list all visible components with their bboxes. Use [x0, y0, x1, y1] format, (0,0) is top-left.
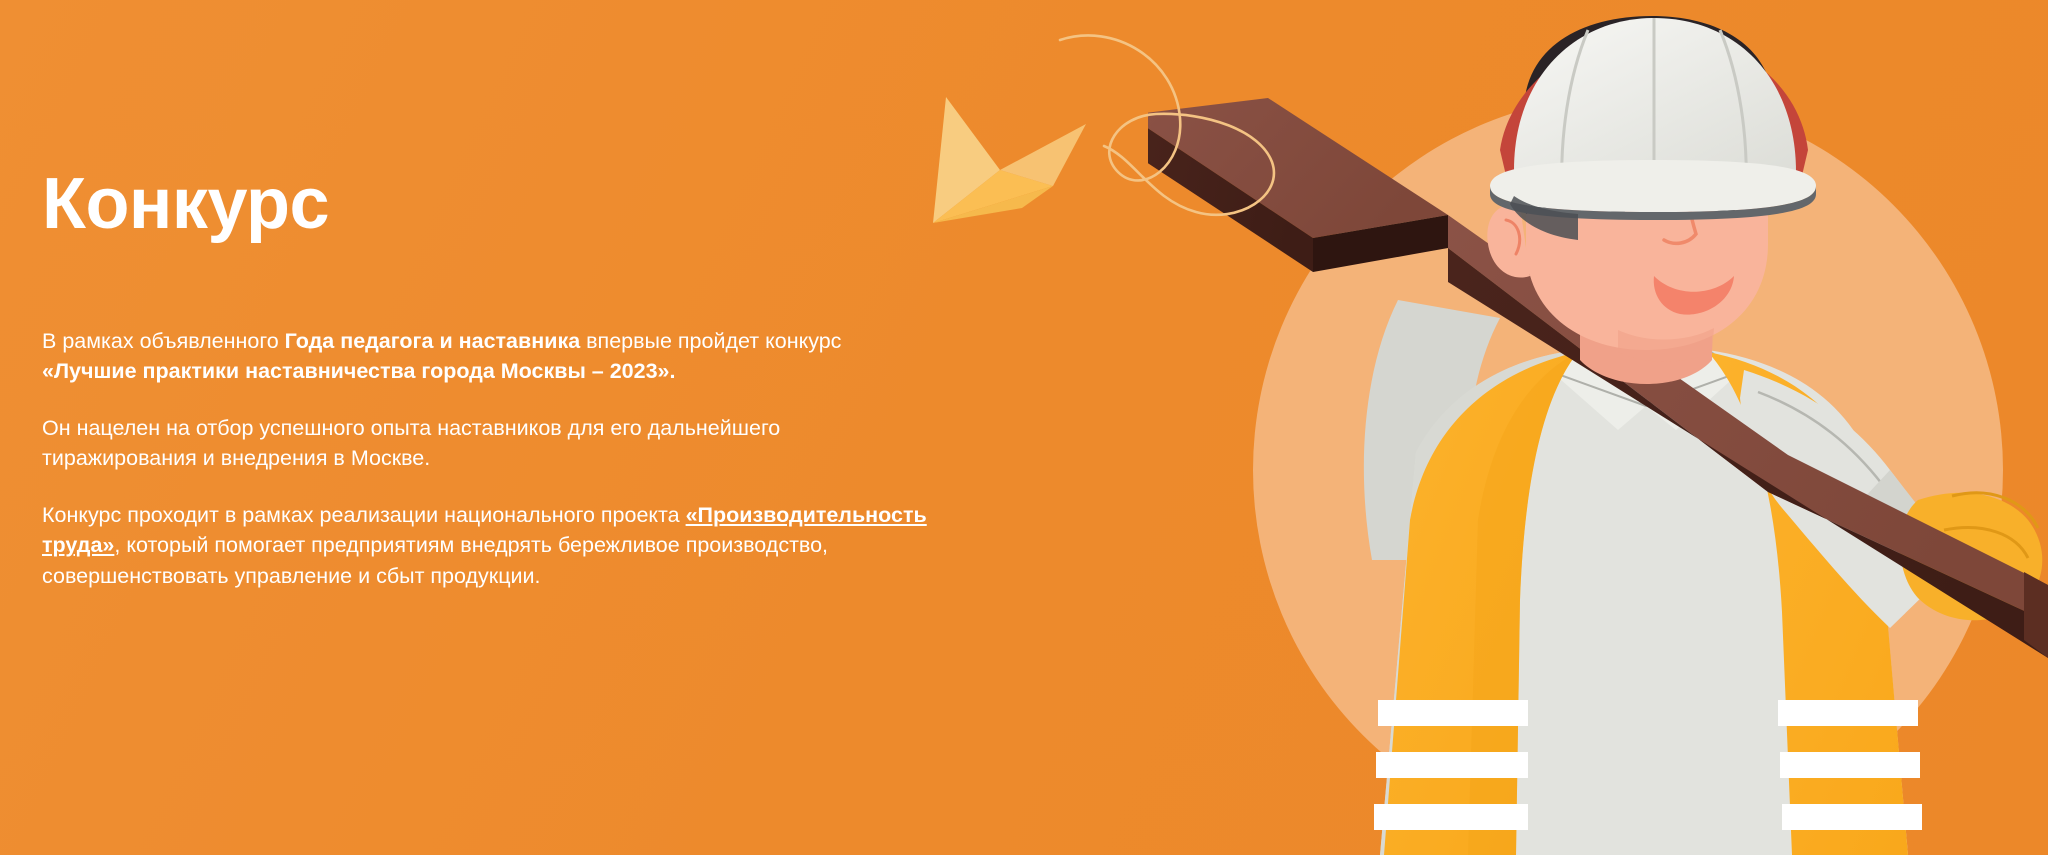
promo-banner: Конкурс В рамках объявленного Года педаг…	[0, 0, 2048, 855]
worker-hard-hat	[1490, 18, 1816, 240]
paragraph-1-run-2-bold: Года педагога и наставника	[285, 329, 581, 353]
paragraph-1: В рамках объявленного Года педагога и на…	[42, 326, 937, 386]
page-title: Конкурс	[42, 168, 962, 240]
paragraph-1-run-1: В рамках объявленного	[42, 329, 285, 353]
construction-worker-illustration	[1148, 0, 2048, 855]
paragraph-3-run-3: , который помогает предприятиям внедрять…	[42, 533, 828, 587]
paragraph-2-run-1: Он нацелен на отбор успешного опыта наст…	[42, 416, 780, 470]
paragraph-1-run-4-bold: «Лучшие практики наставничества города М…	[42, 359, 675, 383]
paragraph-1-run-3: впервые пройдет конкурс	[580, 329, 841, 353]
banner-text-column: Конкурс В рамках объявленного Года педаг…	[42, 168, 962, 591]
paragraph-3-run-1: Конкурс проходит в рамках реализации нац…	[42, 503, 686, 527]
paragraph-2: Он нацелен на отбор успешного опыта наст…	[42, 413, 937, 473]
paragraph-3: Конкурс проходит в рамках реализации нац…	[42, 500, 937, 590]
